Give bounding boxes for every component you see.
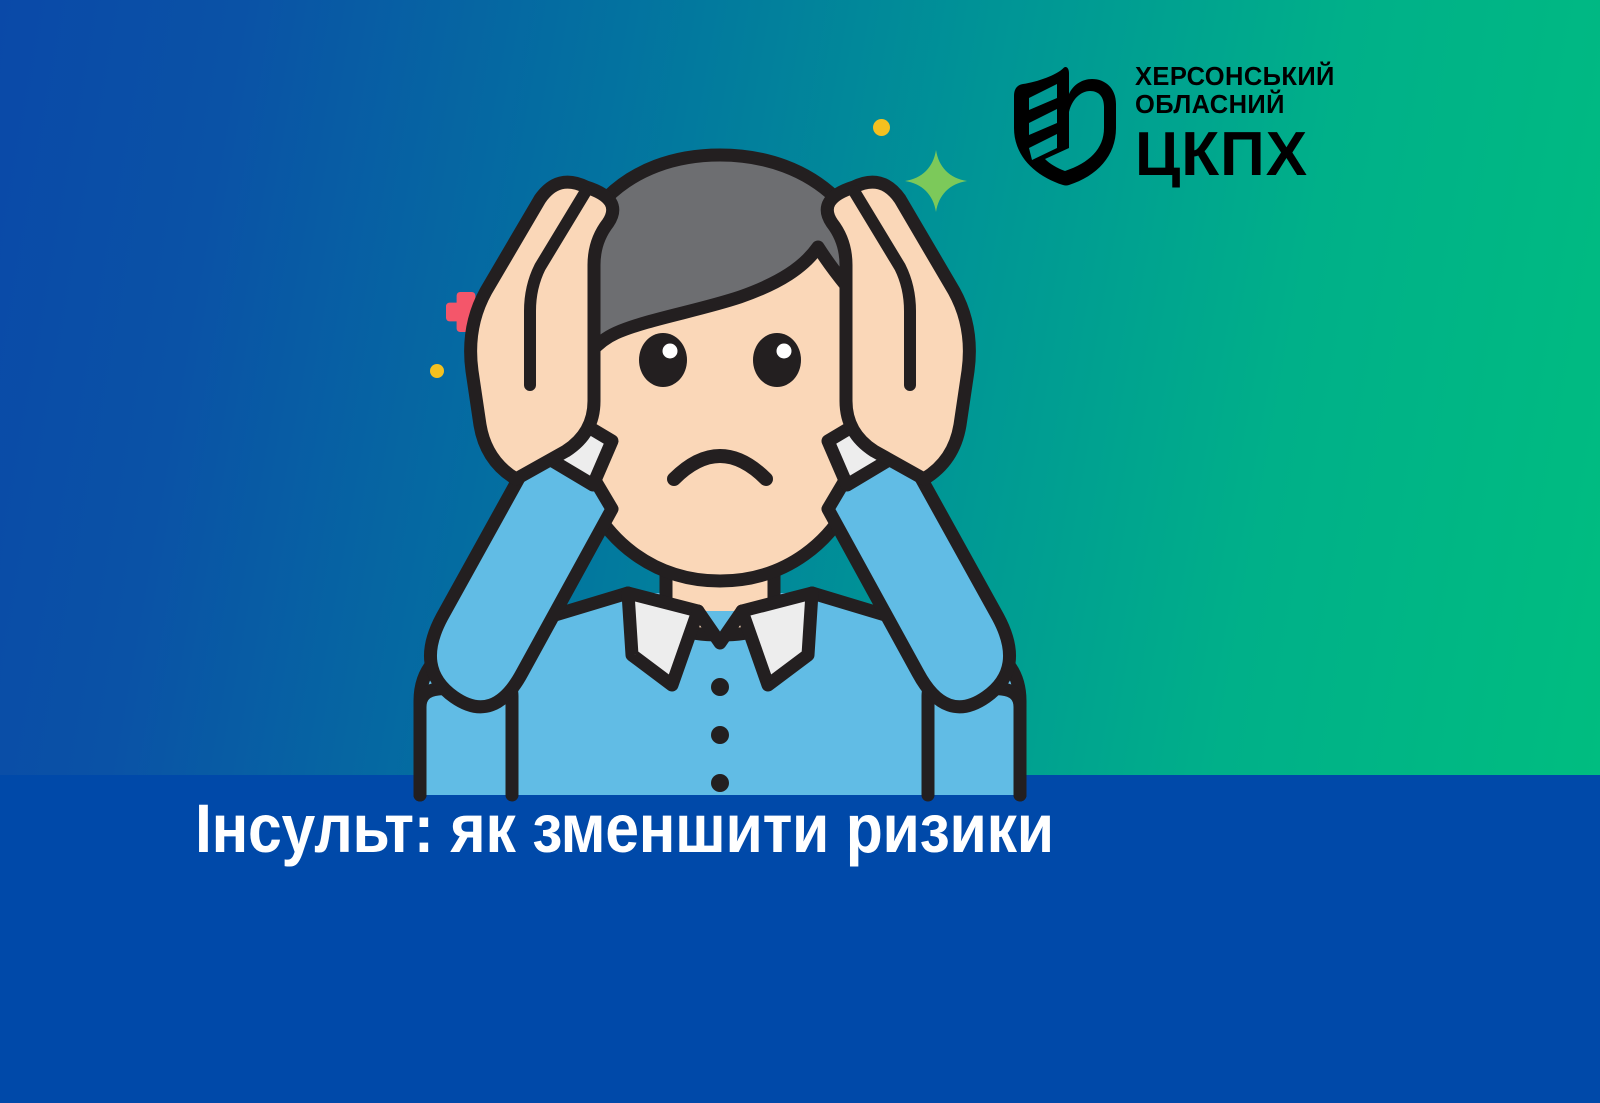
worried-man-illustration [380,95,1060,795]
page-title: Інсульт: як зменшити ризики [195,791,1251,867]
logo-wordmark: ХЕРСОНСЬКИЙ ОБЛАСНИЙ ЦКПХ [1135,65,1335,184]
shield-heart-logo-icon [1013,62,1117,186]
logo-line-2: ОБЛАСНИЙ [1135,93,1335,119]
logo-abbreviation: ЦКПХ [1135,126,1335,184]
poster-canvas: ХЕРСОНСЬКИЙ ОБЛАСНИЙ ЦКПХ Інсульт: як зм… [0,0,1600,1103]
organization-logo: ХЕРСОНСЬКИЙ ОБЛАСНИЙ ЦКПХ [1013,62,1335,186]
logo-line-1: ХЕРСОНСЬКИЙ [1135,65,1335,91]
